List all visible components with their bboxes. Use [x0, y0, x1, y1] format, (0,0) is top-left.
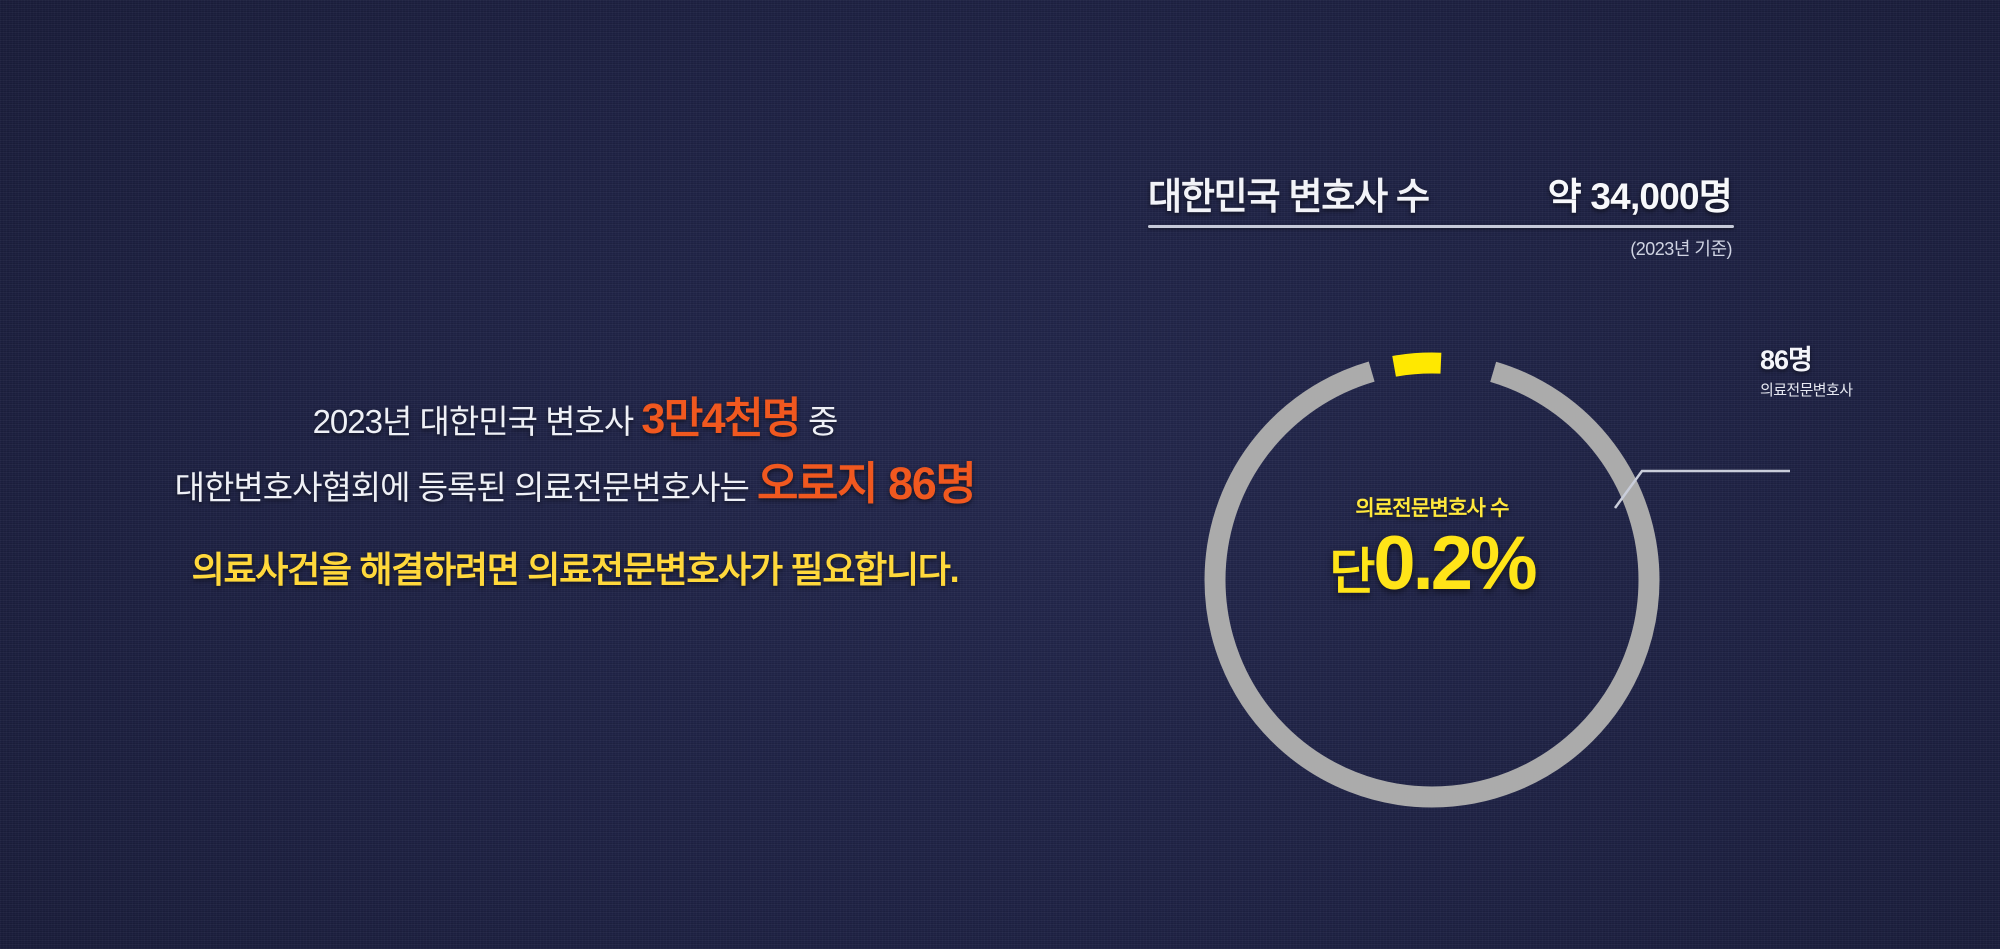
callout-value: 86명 [1760, 338, 1960, 377]
header-block: 대한민국 변호사 수 약 34,000명 (2023년 기준) [1148, 166, 1734, 261]
donut-callout: 86명 의료전문변호사 [1760, 338, 1960, 400]
header-title: 대한민국 변호사 수 [1148, 166, 1429, 220]
header-divider [1148, 225, 1734, 228]
header-value: 약 34,000명 [1548, 166, 1734, 220]
donut-chart: 의료전문변호사 수 단0.2% [1190, 338, 1674, 822]
donut-svg [1190, 338, 1674, 822]
narrative-line-3: 의료사건을 해결하려면 의료전문변호사가 필요합니다. [60, 552, 1090, 588]
narrative-line-2-prefix: 대한변호사협회에 등록된 의료전문변호사는 [175, 469, 757, 506]
narrative-line-1: 2023년 대한민국 변호사 3만4천명 중 [60, 398, 1090, 441]
narrative-line-1-prefix: 2023년 대한민국 변호사 [313, 403, 642, 440]
infographic-canvas: 대한민국 변호사 수 약 34,000명 (2023년 기준) 2023년 대한… [0, 0, 2000, 949]
narrative-line-2: 대한변호사협회에 등록된 의료전문변호사는 오로지 86명 [60, 461, 1090, 506]
narrative-block: 2023년 대한민국 변호사 3만4천명 중 대한변호사협회에 등록된 의료전문… [60, 398, 1090, 588]
callout-subtitle: 의료전문변호사 [1760, 379, 1960, 400]
narrative-line-3-text: 의료사건을 해결하려면 의료전문변호사가 필요합니다. [192, 549, 959, 590]
header-note: (2023년 기준) [1148, 235, 1734, 261]
header-row: 대한민국 변호사 수 약 34,000명 [1148, 166, 1734, 220]
narrative-line-2-highlight: 오로지 86명 [757, 458, 975, 509]
donut-segment-other [1215, 363, 1649, 797]
narrative-line-1-suffix: 중 [800, 403, 838, 440]
narrative-line-1-highlight: 3만4천명 [641, 395, 800, 443]
